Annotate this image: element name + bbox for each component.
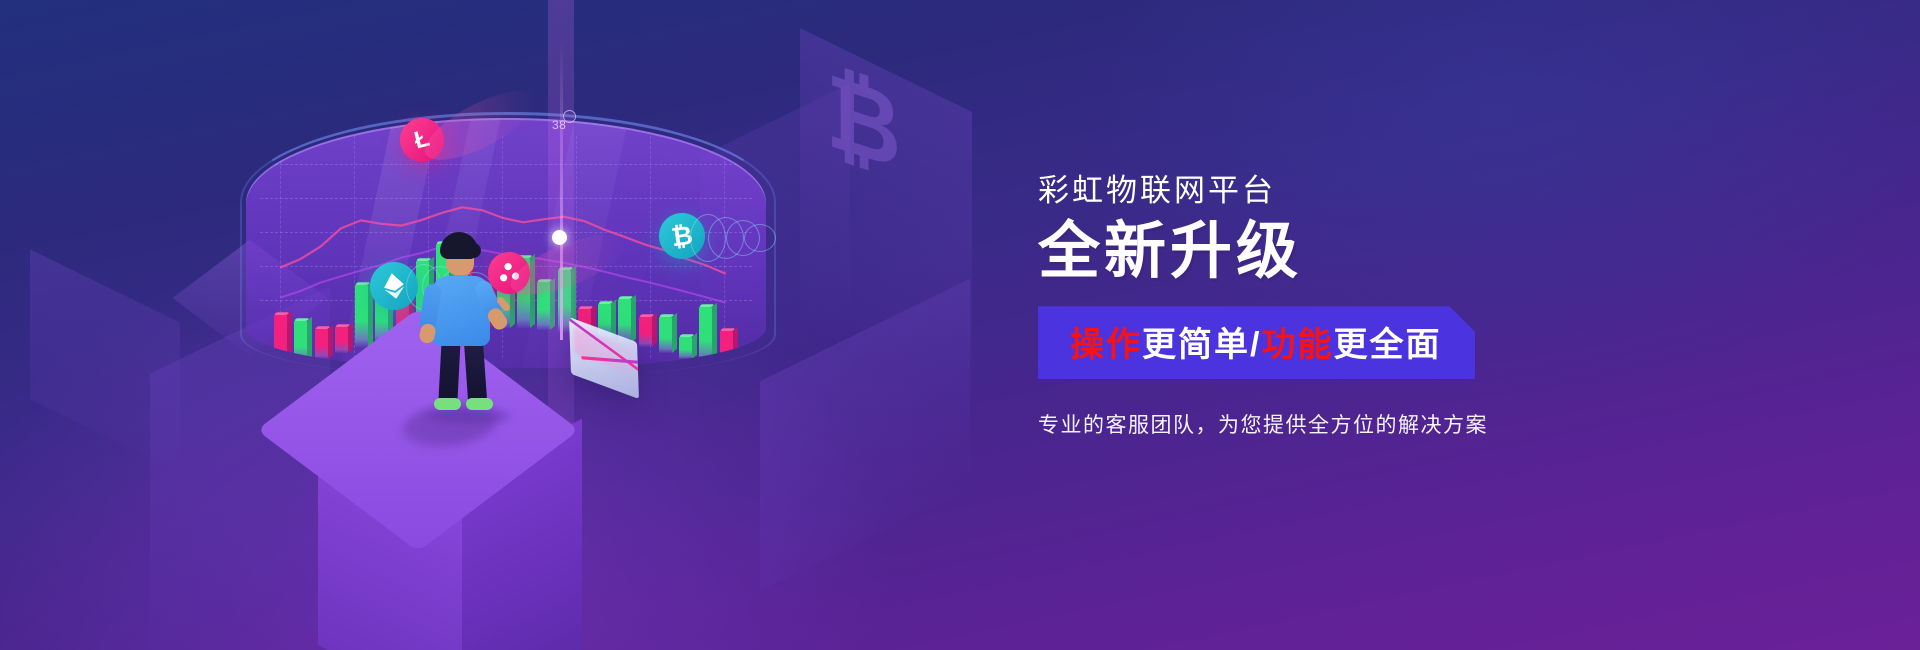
tagline-text: 专业的客服团队，为您提供全方位的解决方案 — [1038, 409, 1598, 439]
bg-iso-block-right-a — [800, 28, 972, 412]
candlestick-body — [659, 317, 672, 353]
candlestick-side — [712, 302, 717, 364]
candlestick-bar — [274, 315, 287, 368]
candlestick-body — [294, 321, 307, 365]
candlestick-side — [287, 311, 292, 368]
candlestick-top — [274, 312, 289, 315]
candlestick-top — [315, 326, 330, 329]
person-shadow — [426, 408, 510, 424]
person-leg-left — [438, 340, 460, 403]
hero-banner: ₿ 38 Ł — [0, 0, 1920, 650]
candlestick-bar — [659, 317, 672, 353]
bg-iso-block-right-c — [760, 279, 970, 591]
ghost-bitcoin-icon: ₿ — [826, 58, 901, 185]
person-shoe-left — [434, 398, 461, 410]
candlestick-top — [294, 318, 309, 321]
candlestick-top — [335, 324, 350, 327]
candlestick-bar — [639, 317, 652, 347]
candlestick-body — [639, 317, 652, 347]
bitcoin-icon: ₿ — [669, 219, 694, 253]
person-hair — [440, 232, 478, 259]
candlestick-bar — [699, 307, 712, 365]
candlestick-bar — [679, 337, 692, 359]
candlestick-top — [699, 304, 714, 307]
candlestick-side — [307, 316, 312, 364]
marker-line — [560, 40, 563, 340]
kicker-text: 彩虹物联网平台 — [1038, 172, 1598, 209]
marker-dot — [552, 230, 567, 245]
candlestick-bar — [294, 321, 307, 365]
candlestick-side — [733, 327, 738, 368]
candlestick-top — [659, 314, 674, 317]
headline-text: 全新升级 — [1038, 219, 1598, 284]
candlestick-top — [679, 334, 694, 337]
candlestick-body — [679, 337, 692, 359]
candlestick-body — [274, 315, 287, 368]
feature-ribbon: 操作更简单/功能更全面 — [1038, 306, 1475, 379]
candlestick-side — [530, 254, 535, 328]
candlestick-side — [652, 313, 657, 347]
candlestick-side — [631, 294, 636, 342]
candlestick-body — [720, 331, 733, 368]
candlestick-side — [672, 313, 677, 353]
litecoin-icon: Ł — [411, 125, 432, 156]
ribbon-highlight-2: 功能 — [1261, 326, 1333, 364]
ribbon-highlight-1: 操作 — [1070, 326, 1142, 364]
person-shoe-right — [466, 398, 493, 410]
candlestick-top — [578, 306, 593, 309]
candlestick-body — [699, 307, 712, 365]
candlestick-side — [692, 332, 697, 358]
ribbon-text: 操作更简单/功能更全面 — [1070, 326, 1441, 364]
marker-value-label: 38 — [552, 118, 566, 132]
person-leg-right — [464, 339, 487, 402]
ribbon-plain-1: 更简单/ — [1142, 326, 1261, 364]
candlestick-top — [618, 296, 633, 299]
person-illustration — [418, 232, 510, 412]
candlestick-top — [720, 328, 735, 331]
ribbon-plain-2: 更全面 — [1333, 326, 1441, 364]
copy-block: 彩虹物联网平台 全新升级 操作更简单/功能更全面 专业的客服团队，为您提供全方位… — [1038, 172, 1598, 439]
bg-iso-block-left-a — [30, 249, 180, 472]
candlestick-bar — [720, 331, 733, 368]
ethereum-icon — [382, 271, 406, 300]
